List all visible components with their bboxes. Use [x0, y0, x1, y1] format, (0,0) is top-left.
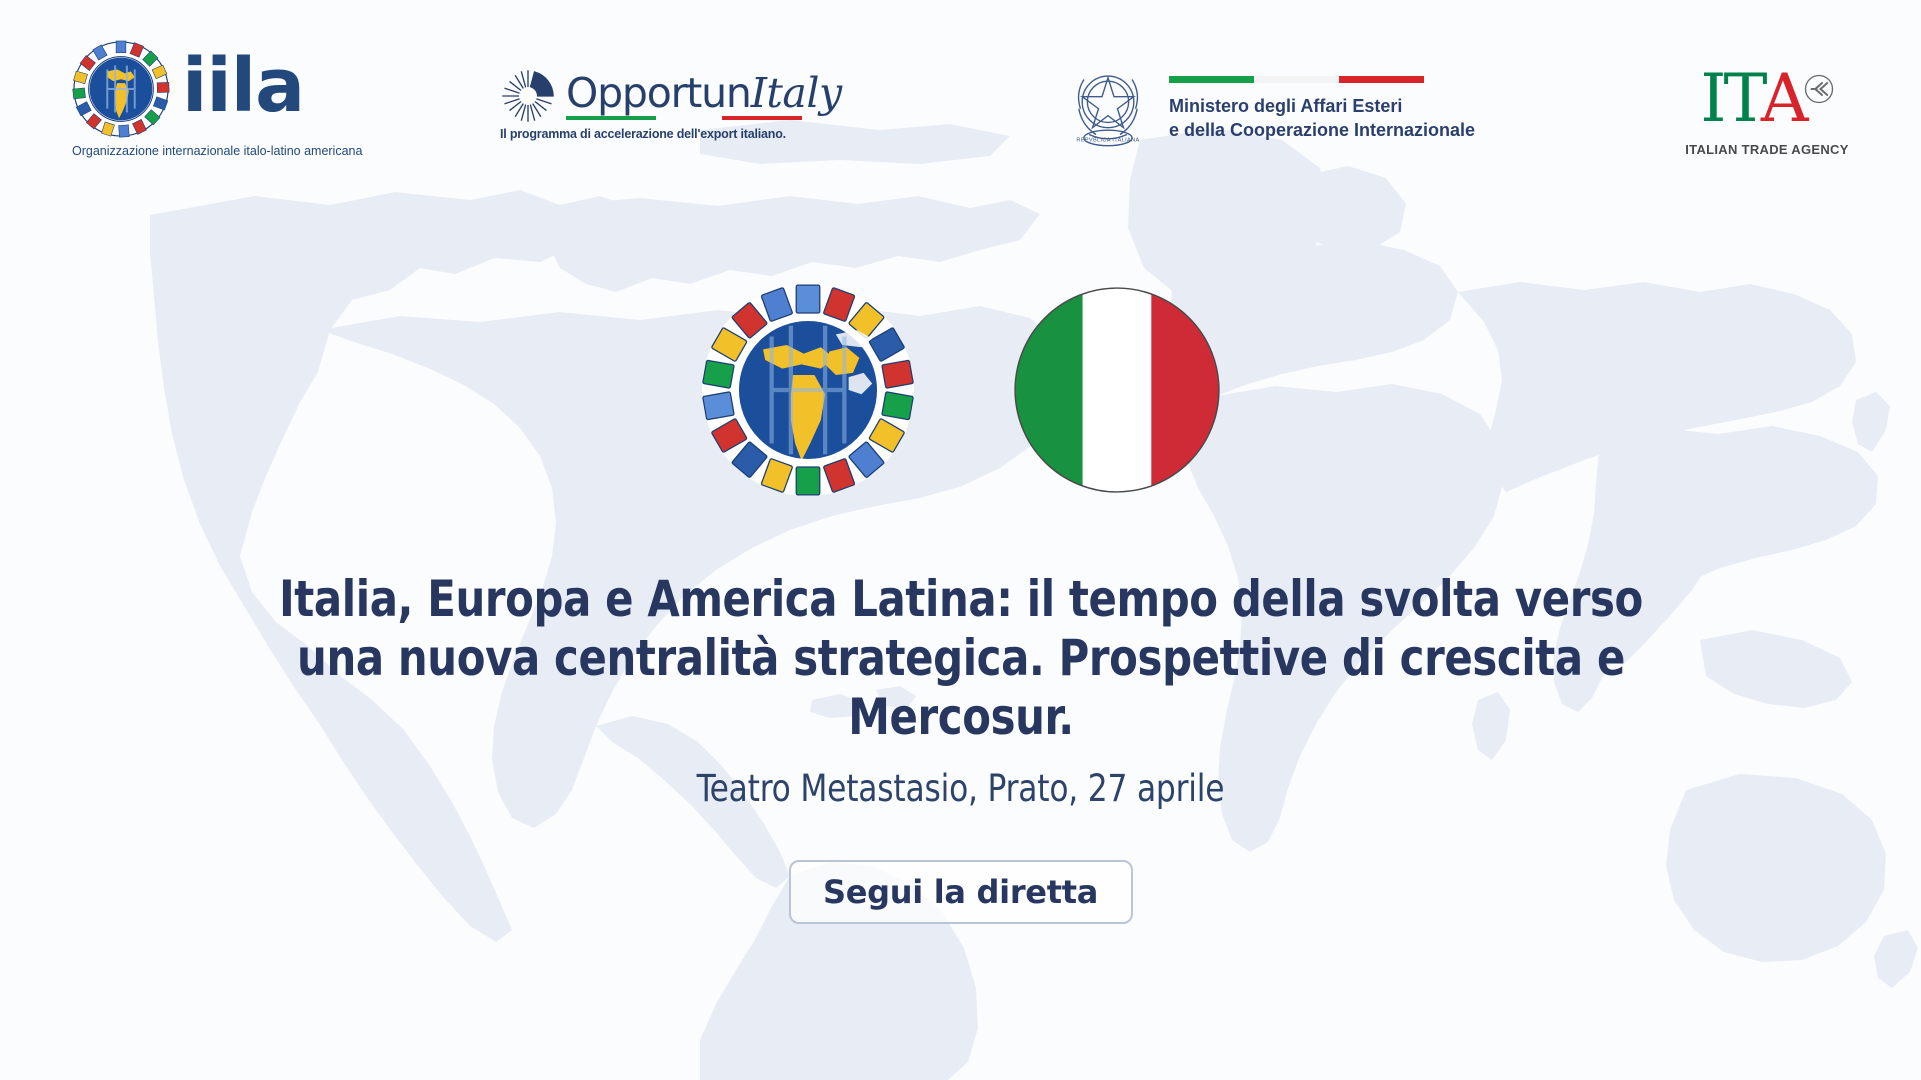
- ita-wordmark: ITA: [1700, 66, 1805, 132]
- page-title: Italia, Europa e America Latina: il temp…: [263, 570, 1658, 747]
- maeci-line-2: e della Cooperazione Internazionale: [1169, 119, 1475, 143]
- ita-letters-red: A: [1761, 60, 1806, 137]
- iila-globe-flags-icon: [72, 40, 170, 138]
- opportunitaly-tagline: Il programma di accelerazione dell'expor…: [500, 127, 750, 141]
- logo-maeci: REPVBLICA ITALIANA Ministero degli Affar…: [1065, 62, 1465, 172]
- opportunitaly-word-second: Italy: [751, 69, 842, 117]
- italy-flag-circle: [1013, 286, 1221, 494]
- ita-letters-green: IT: [1700, 60, 1760, 137]
- ita-tagline: ITALIAN TRADE AGENCY: [1672, 142, 1862, 157]
- cta-container: Segui la diretta: [0, 860, 1921, 924]
- ita-chevron-badge-icon: [1804, 74, 1834, 104]
- event-venue-date: Teatro Metastasio, Prato, 27 aprile: [58, 767, 1864, 810]
- svg-text:REPVBLICA ITALIANA: REPVBLICA ITALIANA: [1076, 137, 1139, 143]
- event-banner: iila Organizzazione internazionale italo…: [0, 0, 1921, 1080]
- watch-live-button[interactable]: Segui la diretta: [789, 860, 1133, 924]
- logo-iila: iila Organizzazione internazionale italo…: [72, 40, 340, 180]
- opportunitaly-sunburst-icon: [500, 68, 556, 124]
- logo-opportunitaly: OpportunItaly Il programma di accelerazi…: [500, 68, 750, 168]
- maeci-line-1: Ministero degli Affari Esteri: [1169, 95, 1475, 119]
- iila-tagline: Organizzazione internazionale italo-lati…: [72, 144, 340, 158]
- center-emblems: [0, 280, 1921, 500]
- iila-wordmark: iila: [182, 55, 304, 123]
- event-copy: Italia, Europa e America Latina: il temp…: [0, 570, 1921, 924]
- repubblica-italiana-emblem-icon: REPVBLICA ITALIANA: [1065, 62, 1151, 152]
- maeci-tricolor-bar: [1169, 76, 1424, 83]
- logo-ita: ITA ITALIAN TRADE AGENCY: [1672, 66, 1862, 176]
- opportunitaly-word-first: Opportun: [566, 69, 751, 117]
- opportunitaly-tricolor-rule: [566, 116, 802, 120]
- partner-logo-bar: iila Organizzazione internazionale italo…: [0, 0, 1921, 210]
- iila-globe-flags-emblem: [701, 283, 915, 497]
- opportunitaly-wordmark: OpportunItaly: [566, 73, 842, 114]
